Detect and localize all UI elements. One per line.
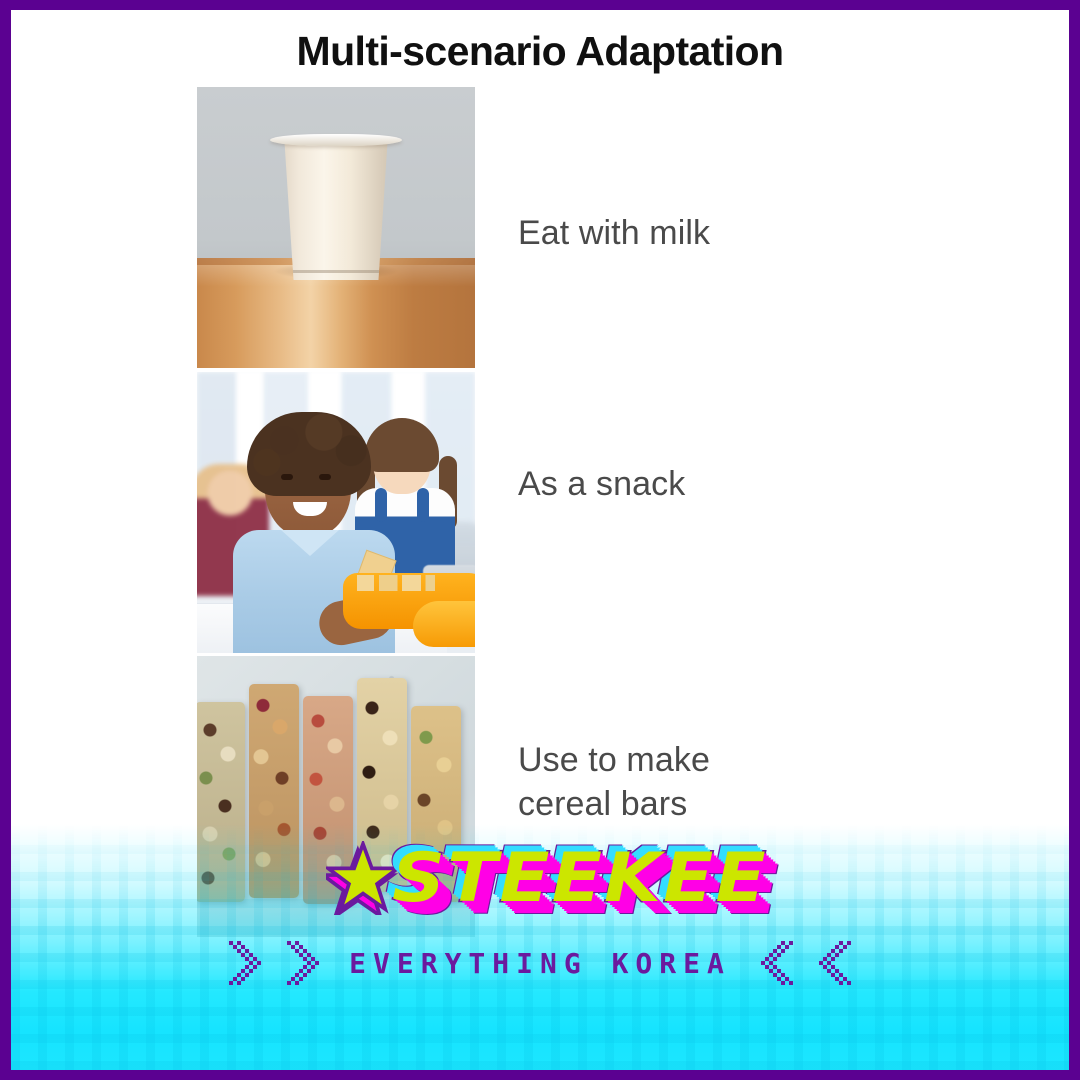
chevron-left-pixel-icon: [753, 937, 797, 989]
scenario-caption-as-a-snack: As a snack: [518, 462, 938, 506]
scenario-image-eat-with-milk: [197, 87, 475, 368]
crackers-on-tray: [357, 575, 435, 591]
right-chevrons: [753, 937, 855, 989]
left-chevrons: [225, 937, 327, 989]
overall-strap-right: [417, 488, 429, 522]
chevron-right-pixel-icon: [225, 937, 269, 989]
scenario-caption-eat-with-milk: Eat with milk: [518, 211, 938, 255]
scenario-caption-cereal-bars: Use to make cereal bars: [518, 738, 938, 826]
boy-eye-right: [319, 474, 331, 480]
brand-logo: STEEKEE: [11, 836, 1069, 920]
brand-tagline-row: EVERYTHING KOREA: [11, 928, 1069, 998]
chevron-right-pixel-icon: [283, 937, 327, 989]
poster-canvas: Multi-scenario Adaptation: [11, 10, 1069, 1070]
brand-wordmark: STEEKEE: [392, 839, 768, 918]
page-title: Multi-scenario Adaptation: [11, 28, 1069, 75]
chevron-left-pixel-icon: [811, 937, 855, 989]
yellow-tray-secondary: [413, 601, 475, 647]
boy-eye-left: [281, 474, 293, 480]
boy-hair: [247, 412, 371, 496]
brand-tagline: EVERYTHING KOREA: [349, 947, 731, 980]
scenario-image-as-a-snack: [197, 372, 475, 653]
poster-root: Multi-scenario Adaptation: [0, 0, 1080, 1080]
cup-rim: [270, 134, 402, 146]
star-icon: [326, 841, 400, 915]
milk-cup: [277, 136, 395, 280]
brand-banner: STEEKEE: [11, 824, 1069, 1070]
